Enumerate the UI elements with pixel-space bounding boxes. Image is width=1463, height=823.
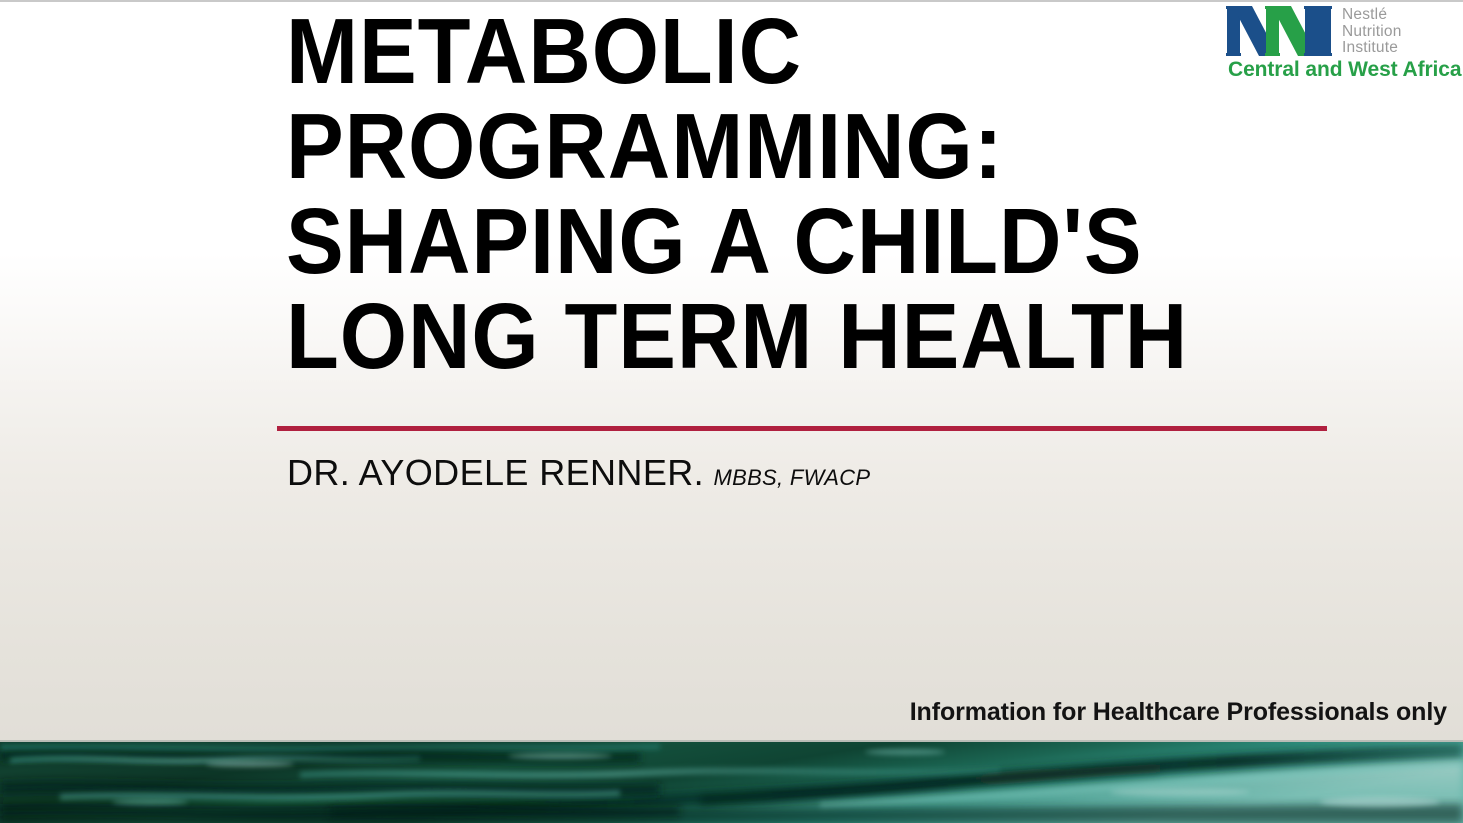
title-slide: Nestlé Nutrition Institute Central and W… — [0, 0, 1463, 823]
nni-logo-wordmark: Nestlé Nutrition Institute — [1342, 7, 1462, 57]
author-name: DR. AYODELE RENNER. — [287, 452, 704, 493]
title-line-1: METABOLIC — [286, 4, 1272, 99]
logo-wordmark-line-1: Nestlé — [1342, 7, 1462, 24]
logo-wordmark-line-2: Nutrition — [1342, 24, 1462, 41]
footer-disclaimer: Information for Healthcare Professionals… — [910, 698, 1447, 727]
accent-divider-rule — [277, 426, 1327, 431]
title-line-4: LONG TERM HEALTH — [286, 289, 1272, 384]
title-line-2: PROGRAMMING: — [286, 99, 1272, 194]
author-credentials: MBBS, FWACP — [713, 465, 870, 490]
logo-wordmark-line-3: Institute — [1342, 40, 1462, 57]
decorative-photo-band — [0, 742, 1463, 823]
title-line-3: SHAPING A CHILD'S — [286, 194, 1272, 289]
page-title: METABOLIC PROGRAMMING: SHAPING A CHILD'S… — [286, 4, 1346, 384]
author-byline: DR. AYODELE RENNER. MBBS, FWACP — [287, 452, 870, 494]
